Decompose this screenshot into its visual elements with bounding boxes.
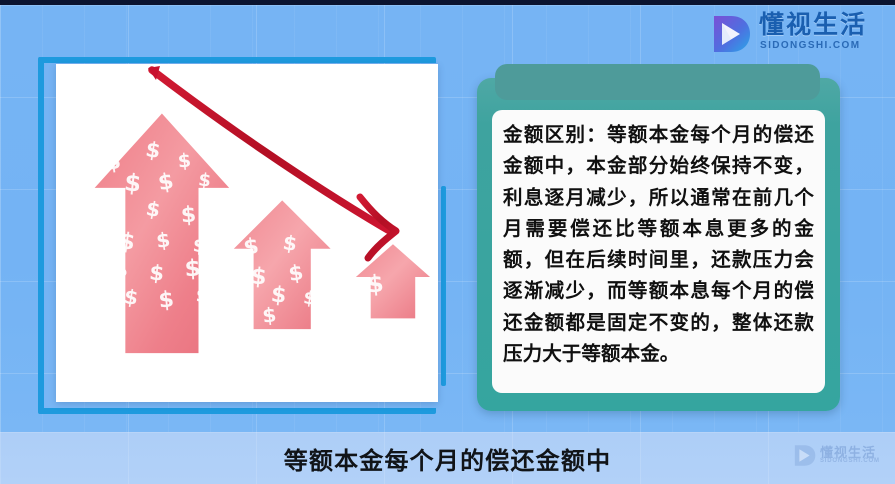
illustration-accent-tick (441, 186, 446, 386)
svg-text:$: $ (237, 289, 252, 312)
d-play-logo-icon (709, 12, 753, 56)
svg-text:$: $ (192, 234, 207, 257)
svg-text:$: $ (180, 203, 197, 229)
svg-text:$: $ (123, 168, 143, 198)
video-frame: $ $ $ $ $ $ $ $ $ $ $ $ $ $ $ $ $ (0, 0, 895, 484)
svg-text:$: $ (157, 287, 175, 313)
explanation-text: 金额区别：等额本金每个月的偿还金额中，本金部分始终保持不变，利息逐月减少，所以通… (503, 119, 814, 369)
logo-domain: SIDONGSHI.COM (760, 40, 860, 51)
svg-text:$: $ (195, 285, 210, 308)
svg-text:$: $ (184, 256, 201, 283)
svg-text:$: $ (148, 260, 165, 285)
svg-text:$: $ (177, 149, 192, 172)
explanation-card: 金额区别：等额本金每个月的偿还金额中，本金部分始终保持不变，利息逐月减少，所以通… (477, 78, 840, 411)
card-top-tab (495, 64, 820, 100)
svg-text:$: $ (101, 287, 116, 310)
svg-text:$: $ (302, 287, 317, 309)
explanation-card-body: 金额区别：等额本金每个月的偿还金额中，本金部分始终保持不变，利息逐月减少，所以通… (492, 110, 825, 393)
svg-text:$: $ (197, 169, 212, 191)
svg-text:$: $ (261, 302, 277, 327)
svg-text:$: $ (249, 263, 267, 290)
svg-text:$: $ (366, 269, 385, 298)
logo-wordmark: 懂视生活 (759, 10, 867, 40)
svg-text:$: $ (109, 199, 126, 224)
svg-text:$: $ (103, 148, 122, 176)
svg-text:$: $ (155, 227, 172, 253)
video-subtitle: 等额本金每个月的偿还金额中 (0, 437, 895, 479)
illustration-canvas: $ $ $ $ $ $ $ $ $ $ $ $ $ $ $ $ $ (56, 64, 438, 402)
money-arrows-illustration: $ $ $ $ $ $ $ $ $ $ $ $ $ $ $ $ $ (56, 64, 438, 402)
svg-text:$: $ (242, 234, 260, 261)
brand-logo[interactable]: 懂视生活 SIDONGSHI.COM (709, 10, 889, 58)
illustration-card: $ $ $ $ $ $ $ $ $ $ $ $ $ $ $ $ $ (56, 64, 438, 402)
